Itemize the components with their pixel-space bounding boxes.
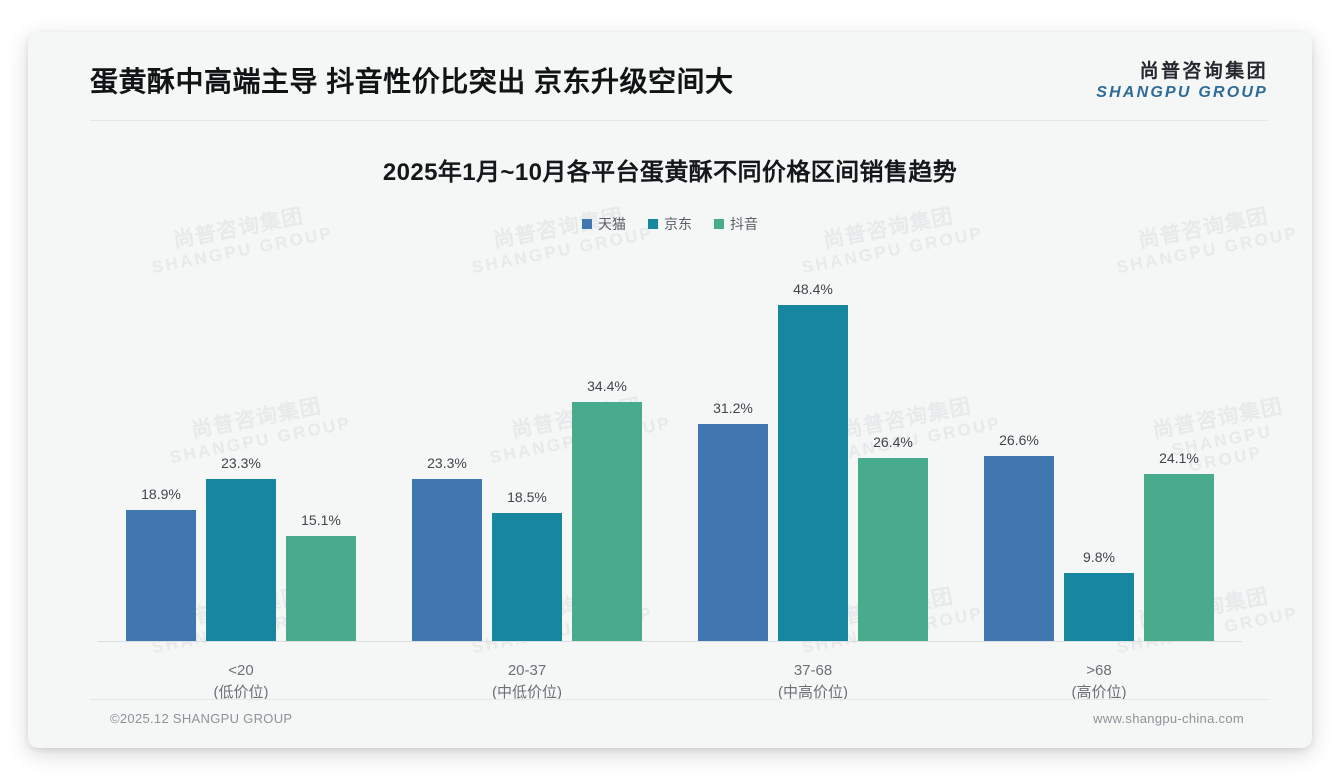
x-tick-sublabel: (中高价位) xyxy=(670,682,956,704)
slide-page: 尚普咨询集团SHANGPU GROUP尚普咨询集团SHANGPU GROUP尚普… xyxy=(0,0,1340,780)
legend-label: 京东 xyxy=(664,214,692,234)
bar-rect[interactable] xyxy=(572,402,642,641)
bar-value-label: 26.4% xyxy=(873,434,913,450)
x-tick-label: <20 xyxy=(98,660,384,682)
legend-swatch-icon xyxy=(648,219,658,229)
chart-title: 2025年1月~10月各平台蛋黄酥不同价格区间销售趋势 xyxy=(28,152,1312,187)
footer-divider xyxy=(90,699,1268,700)
bar-value-label: 23.3% xyxy=(221,455,261,471)
legend-label: 抖音 xyxy=(730,214,758,234)
brand-logo: 尚普咨询集团 SHANGPU GROUP xyxy=(1096,60,1268,103)
bar-抖音[interactable]: 26.4% xyxy=(858,260,928,641)
legend-label: 天猫 xyxy=(598,214,626,234)
bar-value-label: 48.4% xyxy=(793,281,833,297)
logo-text-cn: 尚普咨询集团 xyxy=(1096,60,1268,83)
legend-item-天猫[interactable]: 天猫 xyxy=(582,214,626,234)
bar-value-label: 18.5% xyxy=(507,489,547,505)
x-tick-sublabel: (中低价位) xyxy=(384,682,670,704)
chart-plot-area: 18.9%23.3%15.1%23.3%18.5%34.4%31.2%48.4%… xyxy=(98,260,1242,642)
bar-rect[interactable] xyxy=(984,456,1054,641)
bar-value-label: 31.2% xyxy=(713,400,753,416)
bar-rect[interactable] xyxy=(206,479,276,641)
bar-value-label: 26.6% xyxy=(999,432,1039,448)
bar-抖音[interactable]: 24.1% xyxy=(1144,260,1214,641)
page-title: 蛋黄酥中高端主导 抖音性价比突出 京东升级空间大 xyxy=(90,60,734,100)
x-axis-line xyxy=(98,641,1242,642)
bar-京东[interactable]: 18.5% xyxy=(492,260,562,641)
header-divider xyxy=(90,120,1268,121)
bar-天猫[interactable]: 26.6% xyxy=(984,260,1054,641)
bar-天猫[interactable]: 31.2% xyxy=(698,260,768,641)
bar-value-label: 34.4% xyxy=(587,378,627,394)
x-tick-label: 37-68 xyxy=(670,660,956,682)
bar-rect[interactable] xyxy=(858,458,928,641)
bar-京东[interactable]: 9.8% xyxy=(1064,260,1134,641)
chart-legend: 天猫京东抖音 xyxy=(28,214,1312,234)
legend-swatch-icon xyxy=(714,219,724,229)
bar-value-label: 9.8% xyxy=(1083,549,1115,565)
bar-groups: 18.9%23.3%15.1%23.3%18.5%34.4%31.2%48.4%… xyxy=(98,260,1242,641)
bar-group: 26.6%9.8%24.1% xyxy=(956,260,1242,641)
bar-rect[interactable] xyxy=(778,305,848,641)
legend-item-京东[interactable]: 京东 xyxy=(648,214,692,234)
logo-text-en: SHANGPU GROUP xyxy=(1096,83,1268,103)
legend-swatch-icon xyxy=(582,219,592,229)
bar-value-label: 18.9% xyxy=(141,486,181,502)
bar-group: 23.3%18.5%34.4% xyxy=(384,260,670,641)
bar-group: 18.9%23.3%15.1% xyxy=(98,260,384,641)
bar-group: 31.2%48.4%26.4% xyxy=(670,260,956,641)
bar-value-label: 24.1% xyxy=(1159,450,1199,466)
bar-天猫[interactable]: 18.9% xyxy=(126,260,196,641)
bar-value-label: 23.3% xyxy=(427,455,467,471)
bar-value-label: 15.1% xyxy=(301,512,341,528)
bar-抖音[interactable]: 15.1% xyxy=(286,260,356,641)
bar-京东[interactable]: 23.3% xyxy=(206,260,276,641)
bar-天猫[interactable]: 23.3% xyxy=(412,260,482,641)
x-tick-label: 20-37 xyxy=(384,660,670,682)
bar-rect[interactable] xyxy=(698,424,768,641)
bar-rect[interactable] xyxy=(126,510,196,641)
bar-京东[interactable]: 48.4% xyxy=(778,260,848,641)
bar-rect[interactable] xyxy=(412,479,482,641)
bar-抖音[interactable]: 34.4% xyxy=(572,260,642,641)
bar-rect[interactable] xyxy=(1144,474,1214,641)
slide-card: 尚普咨询集团SHANGPU GROUP尚普咨询集团SHANGPU GROUP尚普… xyxy=(28,32,1312,748)
legend-item-抖音[interactable]: 抖音 xyxy=(714,214,758,234)
bar-rect[interactable] xyxy=(492,513,562,641)
footer-website[interactable]: www.shangpu-china.com xyxy=(1093,711,1244,726)
bar-rect[interactable] xyxy=(1064,573,1134,641)
x-tick-sublabel: (高价位) xyxy=(956,682,1242,704)
x-tick-sublabel: (低价位) xyxy=(98,682,384,704)
footer-copyright: ©2025.12 SHANGPU GROUP xyxy=(110,711,292,726)
slide-header: 蛋黄酥中高端主导 抖音性价比突出 京东升级空间大 尚普咨询集团 SHANGPU … xyxy=(28,32,1312,114)
x-tick-label: >68 xyxy=(956,660,1242,682)
bar-rect[interactable] xyxy=(286,536,356,641)
